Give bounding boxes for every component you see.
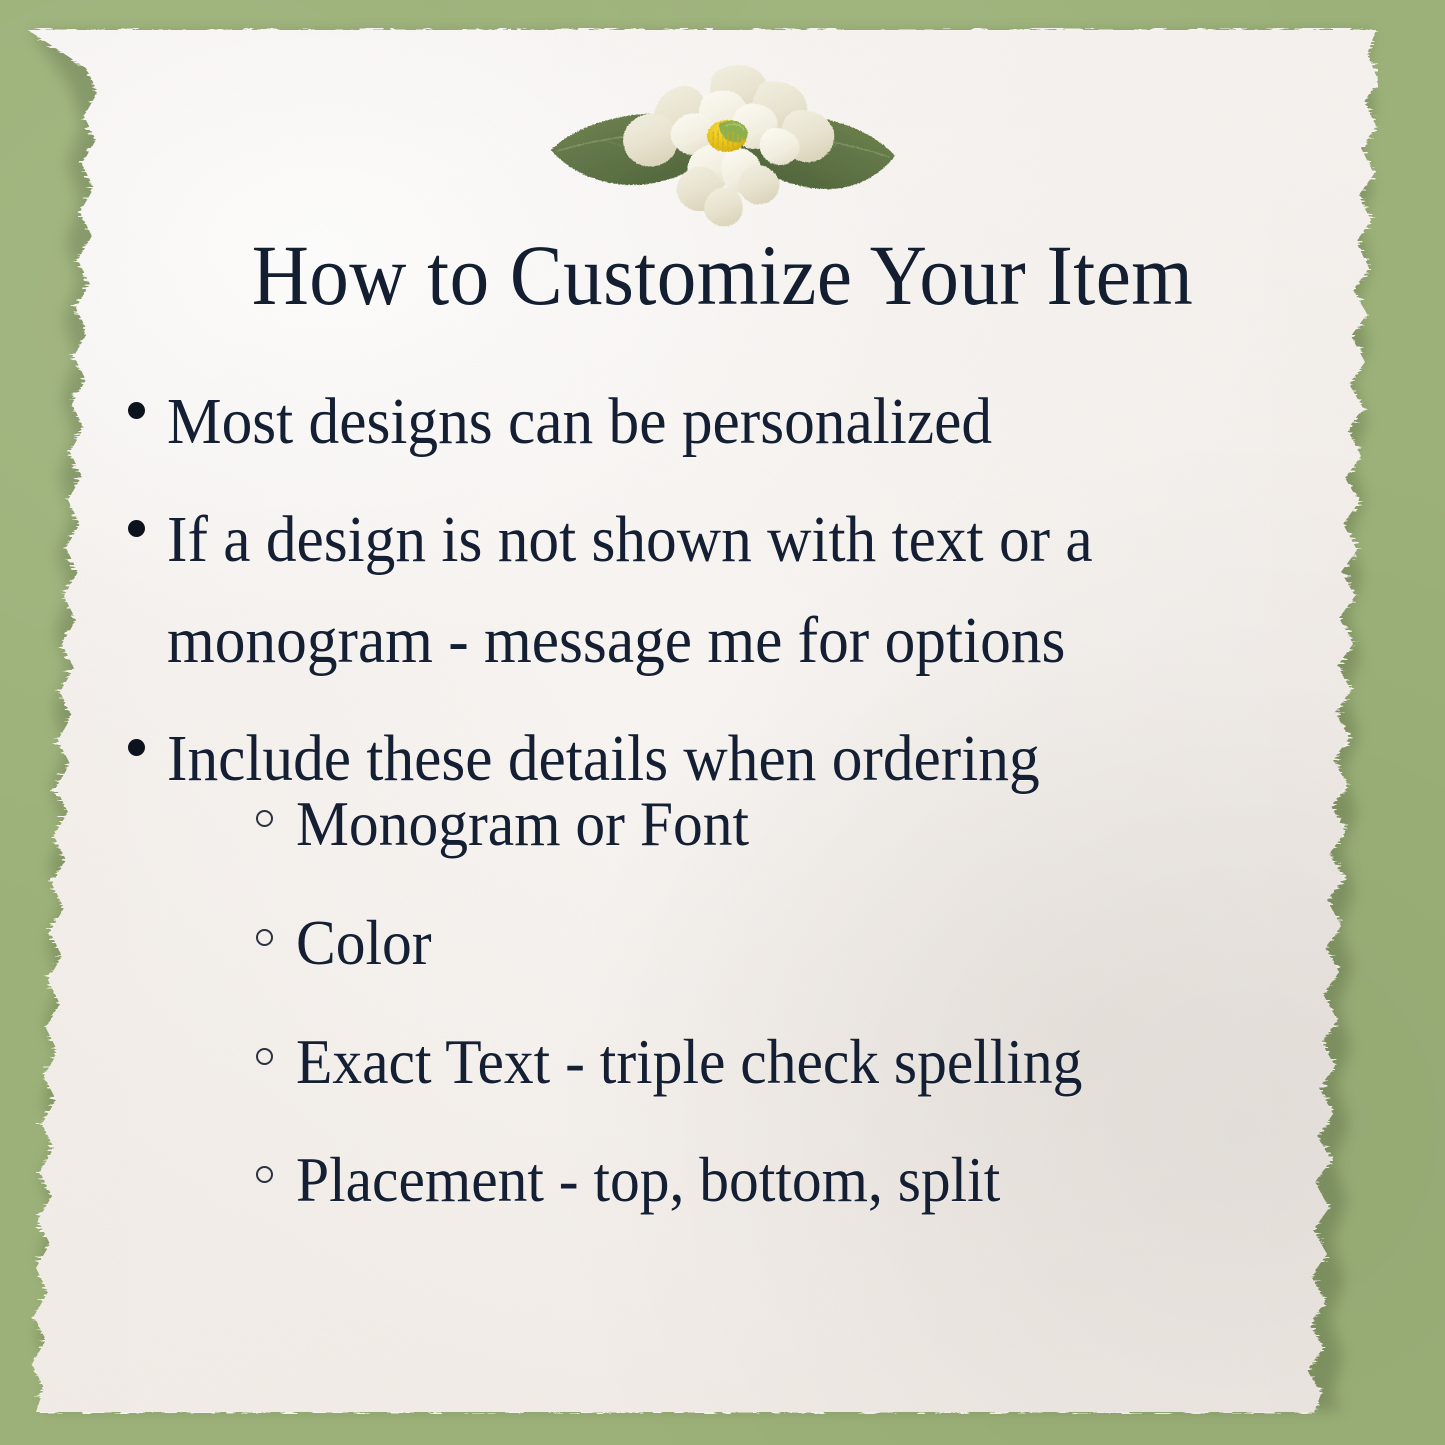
list-item-label: Monogram or Font bbox=[296, 778, 749, 871]
hollow-circle-bullet-icon bbox=[256, 1048, 273, 1065]
list-item: Placement - top, bottom, split bbox=[256, 1134, 1376, 1227]
hollow-circle-bullet-icon bbox=[256, 929, 273, 946]
filled-dot-bullet-icon bbox=[128, 402, 145, 419]
page-title: How to Customize Your Item bbox=[58, 232, 1387, 318]
list-item-label: Placement - top, bottom, split bbox=[296, 1134, 1000, 1227]
list-item-label: Most designs can be personalized bbox=[167, 372, 992, 472]
ordering-details-sublist: Monogram or Font Color Exact Text - trip… bbox=[256, 778, 1376, 1253]
list-item-label: Exact Text - triple check spelling bbox=[296, 1016, 1082, 1109]
list-item: Color bbox=[256, 897, 1376, 990]
list-item-label: If a design is not shown with text or a … bbox=[167, 490, 1093, 691]
customization-instructions-graphic: How to Customize Your Item Most designs … bbox=[0, 0, 1445, 1445]
hollow-circle-bullet-icon bbox=[256, 1166, 273, 1183]
list-item: If a design is not shown with text or a … bbox=[128, 490, 1348, 691]
hollow-circle-bullet-icon bbox=[256, 810, 273, 827]
filled-dot-bullet-icon bbox=[128, 520, 145, 537]
instruction-list: Most designs can be personalized If a de… bbox=[128, 372, 1348, 827]
list-item-label: Color bbox=[296, 897, 432, 990]
list-item: Most designs can be personalized bbox=[128, 372, 1348, 472]
magnolia-flower-icon bbox=[543, 52, 903, 232]
list-item: Exact Text - triple check spelling bbox=[256, 1016, 1376, 1109]
filled-dot-bullet-icon bbox=[128, 739, 145, 756]
list-item: Monogram or Font bbox=[256, 778, 1376, 871]
